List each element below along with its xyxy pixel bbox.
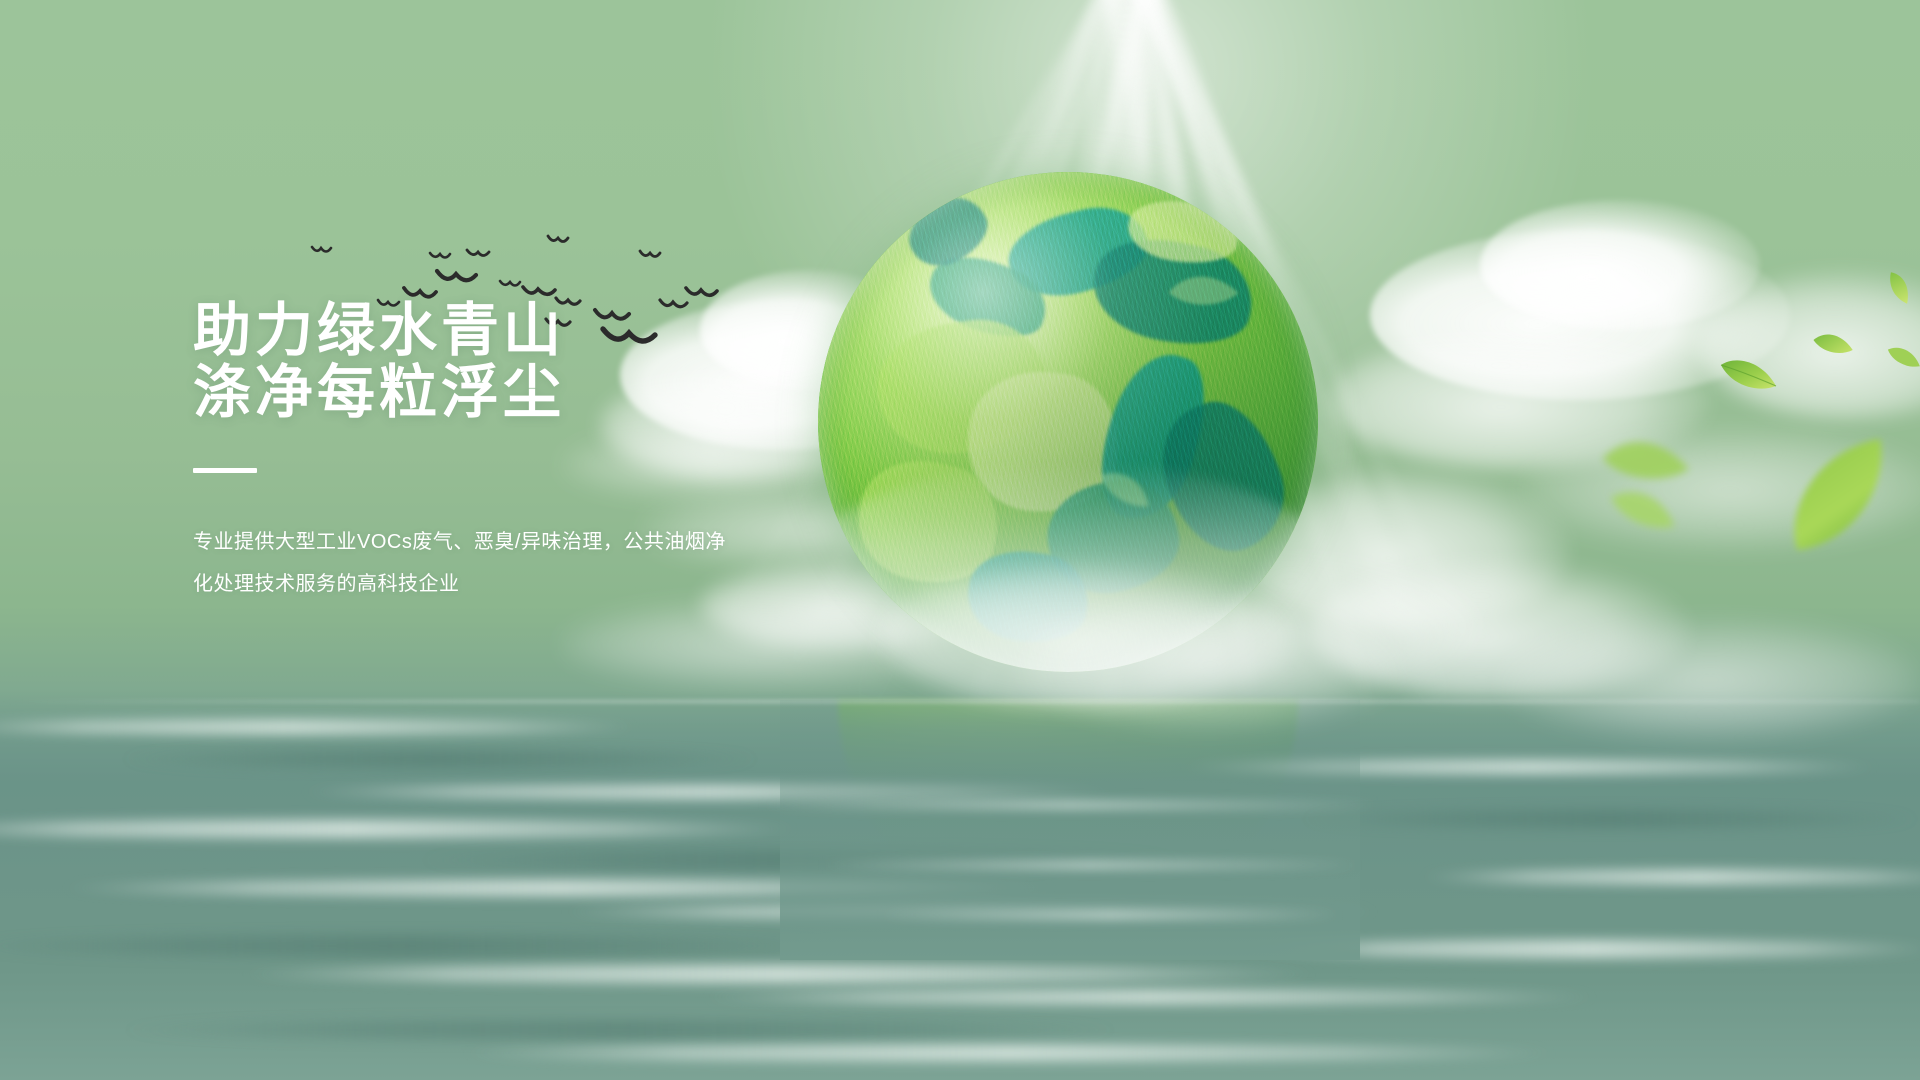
hero-banner: 助力绿水青山 涤净每粒浮尘 专业提供大型工业VOCs废气、恶臭/异味治理，公共油… <box>0 0 1920 1080</box>
floating-leaf <box>1811 328 1856 360</box>
floating-leaf <box>1606 481 1681 536</box>
subtitle-line-2: 化处理技术服务的高科技企业 <box>193 563 733 605</box>
headline-line-2: 涤净每粒浮尘 <box>193 362 833 424</box>
water-streak <box>760 800 1380 810</box>
subtitle-line-1: 专业提供大型工业VOCs废气、恶臭/异味治理，公共油烟净 <box>193 521 733 563</box>
page-title: 助力绿水青山 涤净每粒浮尘 <box>193 300 833 424</box>
hero-copy: 助力绿水青山 涤净每粒浮尘 专业提供大型工业VOCs废气、恶臭/异味治理，公共油… <box>193 300 833 605</box>
floating-leaf <box>1759 416 1901 570</box>
water-surface <box>0 690 1920 1080</box>
title-divider <box>193 468 257 473</box>
water-streak <box>880 910 1340 920</box>
hero-subtitle: 专业提供大型工业VOCs废气、恶臭/异味治理，公共油烟净 化处理技术服务的高科技… <box>193 521 733 605</box>
water-horizon-line <box>0 700 1920 703</box>
floating-leaf <box>1718 355 1780 395</box>
headline-line-1: 助力绿水青山 <box>193 300 833 362</box>
water-streak <box>820 860 1360 870</box>
